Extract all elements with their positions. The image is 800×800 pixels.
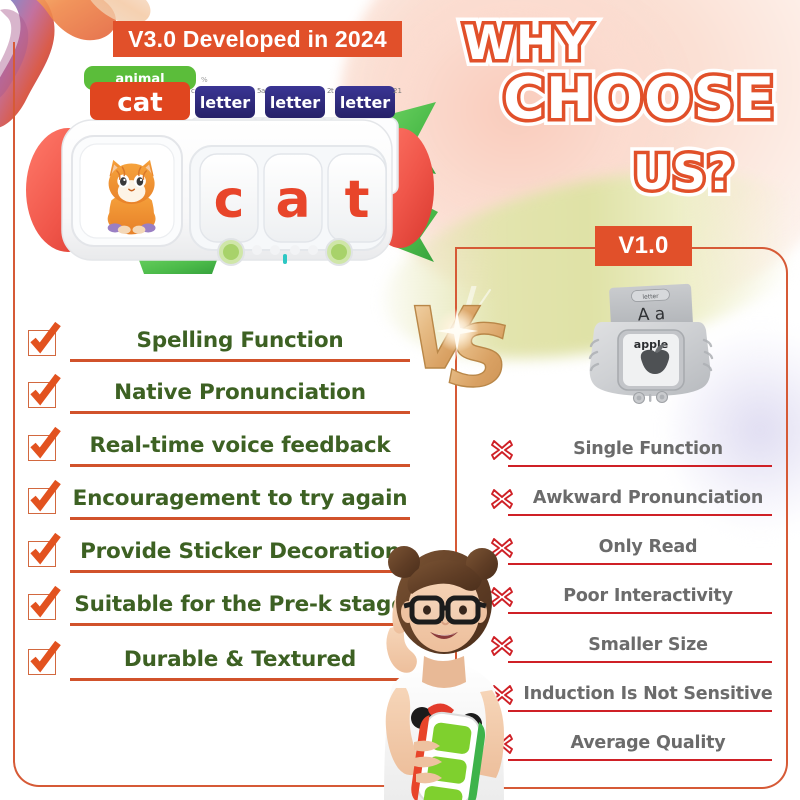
svg-text:c: c	[191, 87, 195, 95]
svg-text:a: a	[261, 87, 265, 95]
svg-text:letter: letter	[200, 93, 250, 112]
con-item: Only Read	[490, 534, 780, 576]
con-item-rule	[508, 514, 772, 516]
con-item-rule	[508, 612, 772, 614]
device-v1-illustration: letter A a apple	[576, 278, 726, 413]
con-item-rule	[508, 661, 772, 663]
svg-text:cat: cat	[117, 88, 162, 118]
check-icon	[28, 488, 56, 514]
pro-item-label: Native Pronunciation	[62, 378, 418, 408]
svg-text:t: t	[345, 170, 370, 230]
svg-text:%: %	[201, 76, 208, 84]
pro-item: Spelling Function	[28, 326, 418, 370]
con-item: Single Function	[490, 436, 780, 478]
svg-text:letter: letter	[642, 293, 659, 301]
con-item-label: Only Read	[516, 533, 780, 561]
pro-item: Encouragement to try again	[28, 484, 418, 528]
cross-icon	[490, 487, 514, 511]
con-item: Induction Is Not Sensitive	[490, 681, 780, 723]
pro-item-rule	[70, 517, 410, 520]
pro-item-rule	[70, 411, 410, 414]
pro-item-rule	[70, 464, 410, 467]
con-item-rule	[508, 563, 772, 565]
check-icon	[28, 594, 56, 620]
con-item-label: Average Quality	[516, 729, 780, 757]
con-item-label: Single Function	[516, 435, 780, 463]
con-item-rule	[508, 710, 772, 712]
con-item: Average Quality	[490, 730, 780, 772]
con-item: Smaller Size	[490, 632, 780, 674]
check-icon	[28, 382, 56, 408]
cross-icon	[490, 438, 514, 462]
badge-v3-label: V3.0 Developed in 2024	[128, 26, 387, 53]
badge-version-v1: V1.0	[595, 226, 692, 266]
check-icon	[28, 541, 56, 567]
poster-canvas: c a t animal cat % letter c 5 letter a	[0, 0, 800, 800]
device-v3-illustration: c a t animal cat % letter c 5 letter a	[24, 62, 444, 277]
pro-item-label: Real-time voice feedback	[62, 431, 418, 461]
pro-item: Real-time voice feedback	[28, 431, 418, 475]
badge-v1-label: V1.0	[618, 232, 668, 260]
con-item-label: Poor Interactivity	[516, 582, 780, 610]
pro-item-label: Spelling Function	[62, 326, 418, 356]
vs-badge: V S	[404, 286, 522, 396]
svg-text:letter: letter	[270, 93, 320, 112]
pro-item-label: Encouragement to try again	[62, 484, 418, 514]
svg-text:c: c	[214, 170, 245, 230]
con-item-rule	[508, 759, 772, 761]
child-photo	[358, 536, 533, 800]
con-item: Poor Interactivity	[490, 583, 780, 625]
con-item-label: Smaller Size	[516, 631, 780, 659]
con-item-label: Awkward Pronunciation	[516, 484, 780, 512]
badge-version-v3: V3.0 Developed in 2024	[113, 21, 402, 57]
check-icon	[28, 330, 56, 356]
check-icon	[28, 649, 56, 675]
svg-text:t: t	[331, 87, 334, 95]
svg-text:21: 21	[393, 87, 402, 95]
pro-item-rule	[70, 359, 410, 362]
con-item-label: Induction Is Not Sensitive	[516, 680, 780, 708]
pro-item: Native Pronunciation	[28, 378, 418, 422]
svg-text:a: a	[275, 170, 310, 230]
check-icon	[28, 435, 56, 461]
svg-text:letter: letter	[340, 93, 390, 112]
con-item: Awkward Pronunciation	[490, 485, 780, 527]
con-item-rule	[508, 465, 772, 467]
